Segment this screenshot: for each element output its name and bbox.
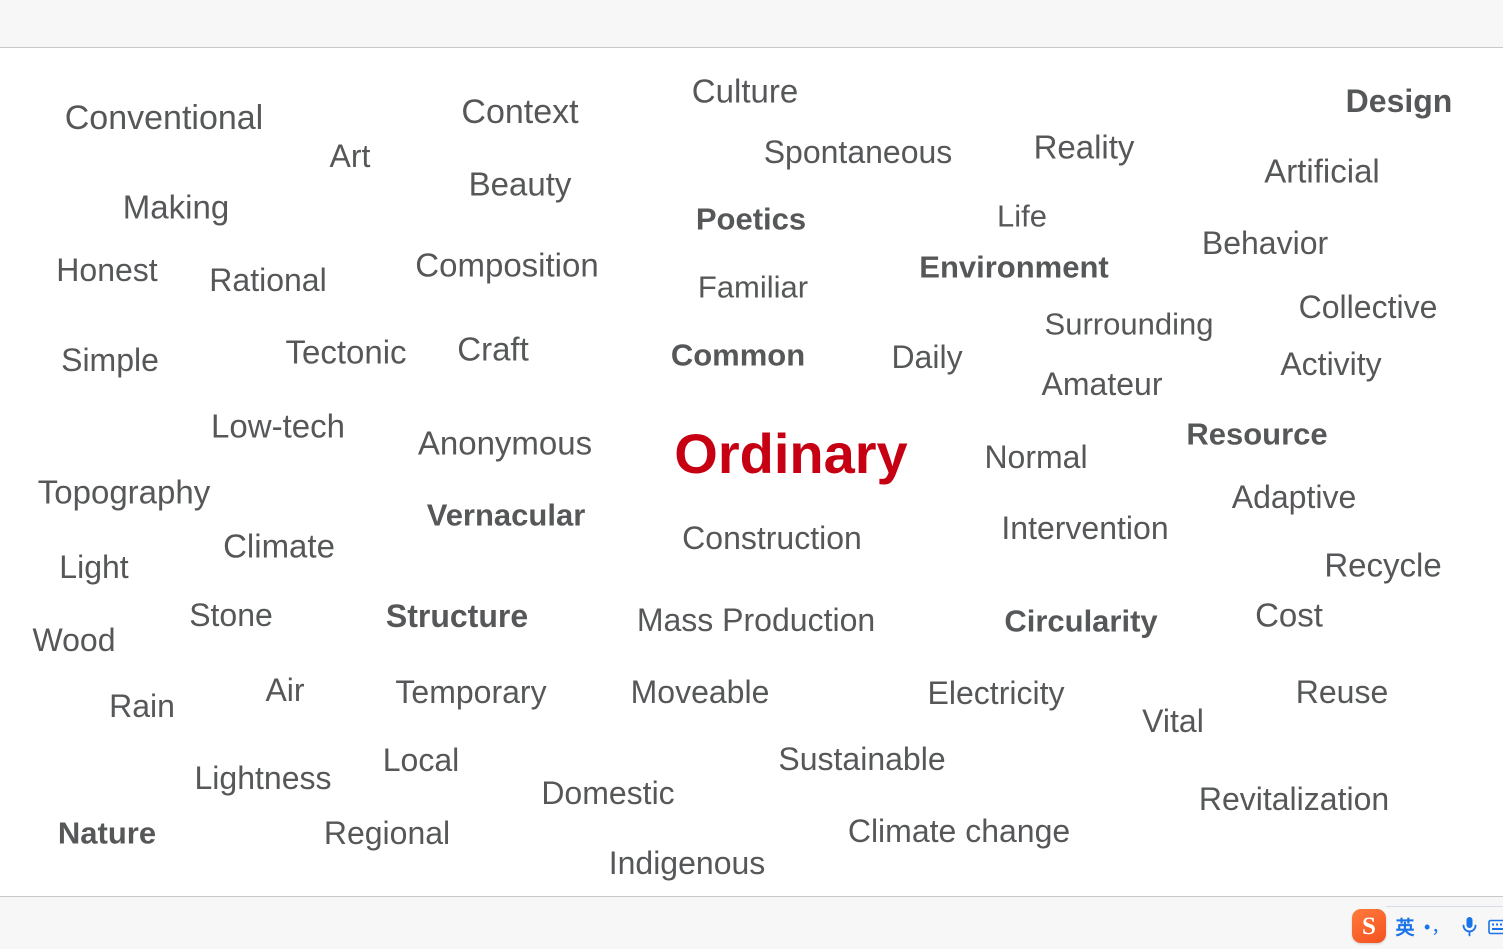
word-cloud-term[interactable]: Climate change [848, 815, 1070, 847]
word-cloud-term[interactable]: Composition [415, 249, 598, 282]
word-cloud-term[interactable]: Resource [1186, 419, 1327, 450]
ime-tray-divider [1386, 906, 1503, 907]
bottom-chrome-band [0, 896, 1503, 949]
word-cloud-term[interactable]: Beauty [469, 168, 572, 201]
word-cloud-term[interactable]: Familiar [698, 272, 808, 303]
word-cloud-term[interactable]: Domestic [541, 777, 674, 809]
microphone-icon[interactable] [1459, 913, 1479, 939]
word-cloud-term[interactable]: Vernacular [427, 500, 586, 531]
language-mode-button[interactable]: 英 [1395, 913, 1415, 939]
word-cloud-term[interactable]: Context [461, 95, 578, 129]
word-cloud-term[interactable]: Normal [984, 441, 1087, 473]
top-chrome-band [0, 0, 1503, 48]
word-cloud-term[interactable]: Circularity [1004, 606, 1157, 637]
word-cloud-term[interactable]: Common [671, 340, 805, 371]
word-cloud-term[interactable]: Tectonic [285, 336, 406, 369]
word-cloud-term[interactable]: Revitalization [1199, 783, 1389, 815]
word-cloud-term[interactable]: Making [123, 191, 229, 224]
word-cloud-term[interactable]: Intervention [1001, 512, 1168, 544]
word-cloud-term[interactable]: Air [265, 674, 304, 706]
word-cloud-term[interactable]: Structure [386, 600, 528, 632]
word-cloud-term[interactable]: Reality [1034, 131, 1135, 164]
word-cloud-term[interactable]: Local [383, 744, 460, 776]
word-cloud-term[interactable]: Reuse [1296, 676, 1389, 708]
word-cloud-term[interactable]: Wood [32, 624, 115, 656]
word-cloud-term[interactable]: Stone [189, 599, 273, 631]
word-cloud-term[interactable]: Vital [1142, 705, 1204, 737]
word-cloud-term[interactable]: Indigenous [609, 847, 766, 879]
word-cloud-term[interactable]: Life [997, 201, 1047, 232]
word-cloud-term[interactable]: Electricity [928, 677, 1065, 709]
word-cloud-term[interactable]: Poetics [696, 204, 806, 235]
word-cloud-term[interactable]: Topography [38, 476, 210, 509]
word-cloud-term[interactable]: Mass Production [637, 604, 875, 636]
word-cloud-term[interactable]: Daily [891, 341, 962, 373]
word-cloud-term[interactable]: Cost [1255, 599, 1323, 632]
word-cloud-term[interactable]: Adaptive [1232, 481, 1357, 513]
word-cloud-term[interactable]: Anonymous [418, 427, 592, 460]
word-cloud-term[interactable]: Nature [58, 818, 156, 849]
keyboard-icon[interactable] [1488, 913, 1503, 939]
word-cloud-term[interactable]: Collective [1299, 291, 1438, 323]
word-cloud-term[interactable]: Temporary [395, 676, 546, 708]
word-cloud-term[interactable]: Spontaneous [764, 136, 953, 168]
word-cloud-term[interactable]: Simple [61, 344, 159, 376]
word-cloud-term[interactable]: Surrounding [1045, 309, 1214, 340]
word-cloud-focus-term[interactable]: Ordinary [674, 426, 907, 482]
word-cloud-term[interactable]: Recycle [1324, 549, 1441, 582]
word-cloud-term[interactable]: Conventional [65, 101, 263, 135]
word-cloud-term[interactable]: Environment [919, 252, 1108, 283]
sogou-ime-toolbar[interactable]: S 英 •， [1352, 908, 1503, 944]
word-cloud-term[interactable]: Construction [682, 522, 862, 554]
word-cloud-term[interactable]: Moveable [631, 676, 770, 708]
word-cloud-term[interactable]: Amateur [1042, 368, 1163, 400]
word-cloud-term[interactable]: Honest [56, 254, 157, 286]
word-cloud-term[interactable]: Climate [223, 530, 335, 563]
word-cloud-term[interactable]: Activity [1280, 348, 1381, 380]
word-cloud-term[interactable]: Sustainable [778, 743, 945, 775]
word-cloud-term[interactable]: Artificial [1264, 155, 1380, 188]
word-cloud-term[interactable]: Art [330, 140, 371, 172]
sogou-logo-icon[interactable]: S [1352, 909, 1386, 943]
word-cloud-term[interactable]: Light [59, 551, 128, 583]
punctuation-toggle-icon[interactable]: •， [1424, 913, 1450, 939]
word-cloud-term[interactable]: Lightness [195, 762, 332, 794]
word-cloud-term[interactable]: Rational [209, 264, 326, 296]
word-cloud-term[interactable]: Craft [457, 333, 529, 366]
word-cloud-term[interactable]: Rain [109, 690, 175, 722]
word-cloud-canvas[interactable]: ConventionalContextCultureDesignArtSpont… [0, 49, 1503, 896]
screenshot-root: ConventionalContextCultureDesignArtSpont… [0, 0, 1503, 949]
word-cloud-term[interactable]: Regional [324, 817, 450, 849]
word-cloud-term[interactable]: Design [1346, 85, 1453, 117]
word-cloud-term[interactable]: Low-tech [211, 410, 345, 443]
word-cloud-term[interactable]: Behavior [1202, 227, 1328, 259]
word-cloud-term[interactable]: Culture [692, 75, 798, 108]
